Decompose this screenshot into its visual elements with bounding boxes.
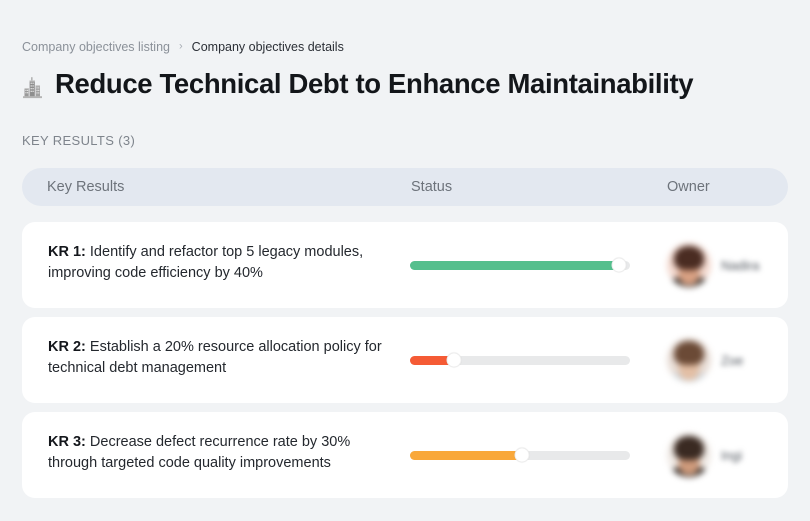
column-header-status: Status [411,168,452,206]
key-result-label: KR 2: [48,339,86,355]
avatar [667,243,711,287]
column-header-key-results: Key Results [47,168,124,206]
status-progress[interactable] [410,412,632,498]
table-row[interactable]: KR 3: Decrease defect recurrence rate by… [22,412,788,498]
avatar [667,338,711,382]
chevron-right-icon: › [179,38,183,56]
owner-name: Zoe [721,353,743,368]
key-result-description: Identify and refactor top 5 legacy modul… [48,244,363,281]
progress-knob[interactable] [447,353,462,368]
owner-cell[interactable]: Ingi [667,412,742,498]
key-results-list: KR 1: Identify and refactor top 5 legacy… [22,222,788,507]
avatar-hair [674,341,704,365]
progress-fill [410,451,522,460]
owner-name: Ingi [721,448,742,463]
progress-knob[interactable] [612,258,627,273]
key-result-text: KR 2: Establish a 20% resource allocatio… [48,337,388,378]
key-result-text: KR 3: Decrease defect recurrence rate by… [48,432,388,473]
progress-fill [410,261,619,270]
key-result-text: KR 1: Identify and refactor top 5 legacy… [48,242,388,283]
key-result-description: Decrease defect recurrence rate by 30% t… [48,434,350,471]
page-title-row: Reduce Technical Debt to Enhance Maintai… [21,66,693,102]
avatar-hair [674,246,704,270]
progress-knob[interactable] [515,448,530,463]
key-results-section-label: KEY RESULTS (3) [22,132,135,150]
table-row[interactable]: KR 1: Identify and refactor top 5 legacy… [22,222,788,308]
owner-name: Nadira [721,258,759,273]
avatar-hair [674,436,704,460]
key-result-label: KR 3: [48,434,86,450]
avatar [667,433,711,477]
page-title: Reduce Technical Debt to Enhance Maintai… [55,66,693,102]
status-progress[interactable] [410,222,632,308]
table-row[interactable]: KR 2: Establish a 20% resource allocatio… [22,317,788,403]
breadcrumb-parent-link[interactable]: Company objectives listing [22,38,170,56]
progress-track[interactable] [410,261,630,270]
breadcrumb: Company objectives listing › Company obj… [22,38,344,56]
owner-cell[interactable]: Zoe [667,317,743,403]
key-result-label: KR 1: [48,244,86,260]
breadcrumb-current: Company objectives details [192,38,344,56]
column-header-owner: Owner [667,168,710,206]
owner-cell[interactable]: Nadira [667,222,759,308]
progress-track[interactable] [410,451,630,460]
key-result-description: Establish a 20% resource allocation poli… [48,339,382,376]
objective-details-page: Company objectives listing › Company obj… [0,0,810,521]
building-icon [21,74,45,100]
progress-track[interactable] [410,356,630,365]
status-progress[interactable] [410,317,632,403]
table-header: Key Results Status Owner [22,168,788,206]
